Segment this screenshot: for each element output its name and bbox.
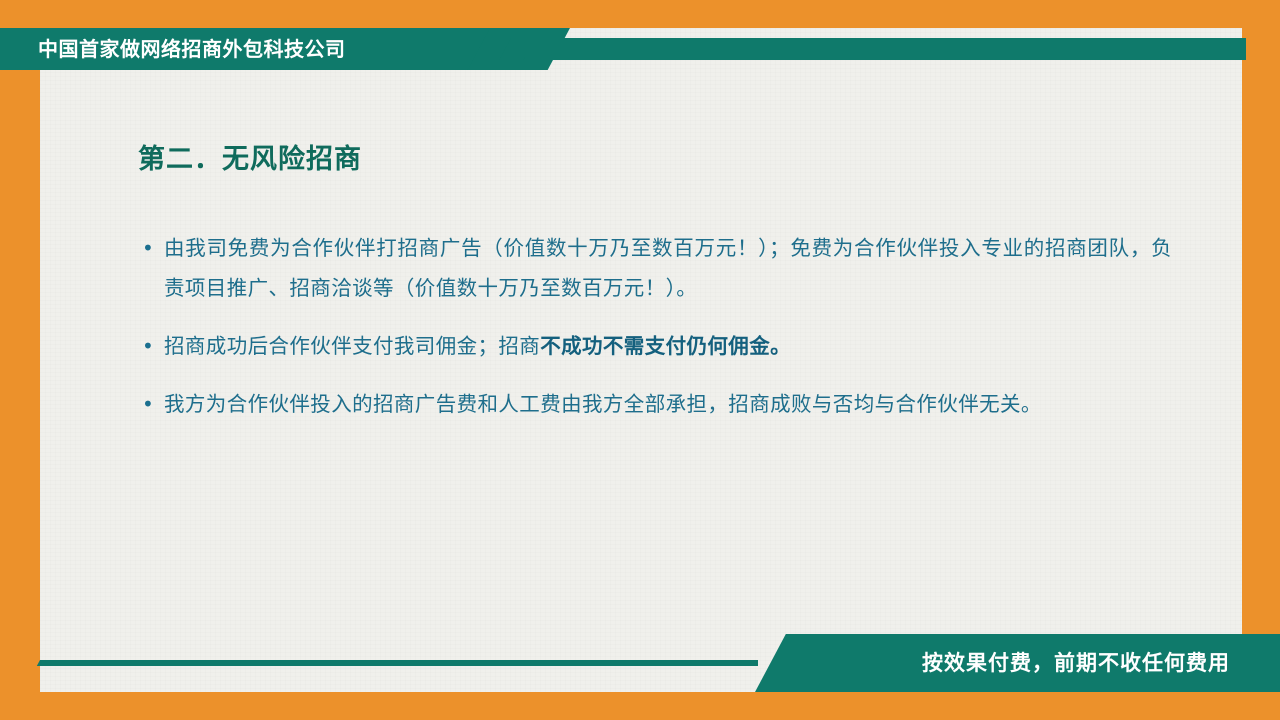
bullet-text-lead: 招商成功后合作伙伴支付我司佣金；招商 xyxy=(164,334,540,358)
bullet-marker-icon: • xyxy=(142,326,164,366)
bullet-text-lead: 我方为合作伙伴投入的招商广告费和人工费由我方全部承担，招商成败与否均与合作伙伴无… xyxy=(164,392,1042,416)
bullet-marker-icon: • xyxy=(142,384,164,424)
bullet-text: 我方为合作伙伴投入的招商广告费和人工费由我方全部承担，招商成败与否均与合作伙伴无… xyxy=(164,384,1172,424)
bullet-text-emphasis: 不成功不需支付仍何佣金。 xyxy=(540,334,791,358)
header-banner: 中国首家做网络招商外包科技公司 xyxy=(0,28,1246,70)
footer-bar-thin xyxy=(48,660,758,666)
bullet-list: • 由我司免费为合作伙伴打招商广告（价值数十万乃至数百万元！）；免费为合作伙伴投… xyxy=(142,228,1172,442)
list-item: • 招商成功后合作伙伴支付我司佣金；招商不成功不需支付仍何佣金。 xyxy=(142,326,1172,366)
bullet-marker-icon: • xyxy=(142,228,164,268)
footer-banner: 按效果付费，前期不收任何费用 xyxy=(0,634,1280,692)
header-title: 中国首家做网络招商外包科技公司 xyxy=(38,28,346,70)
footer-tagline: 按效果付费，前期不收任何费用 xyxy=(922,634,1230,692)
bullet-text-lead: 由我司免费为合作伙伴打招商广告（价值数十万乃至数百万元！）；免费为合作伙伴投入专… xyxy=(164,236,1172,300)
slide-canvas: 中国首家做网络招商外包科技公司 第二．无风险招商 • 由我司免费为合作伙伴打招商… xyxy=(0,0,1280,720)
list-item: • 我方为合作伙伴投入的招商广告费和人工费由我方全部承担，招商成败与否均与合作伙… xyxy=(142,384,1172,424)
bullet-text: 招商成功后合作伙伴支付我司佣金；招商不成功不需支付仍何佣金。 xyxy=(164,326,1172,366)
list-item: • 由我司免费为合作伙伴打招商广告（价值数十万乃至数百万元！）；免费为合作伙伴投… xyxy=(142,228,1172,308)
bullet-text: 由我司免费为合作伙伴打招商广告（价值数十万乃至数百万元！）；免费为合作伙伴投入专… xyxy=(164,228,1172,308)
header-bar-thin xyxy=(525,38,1246,60)
page-title: 第二．无风险招商 xyxy=(138,137,362,176)
